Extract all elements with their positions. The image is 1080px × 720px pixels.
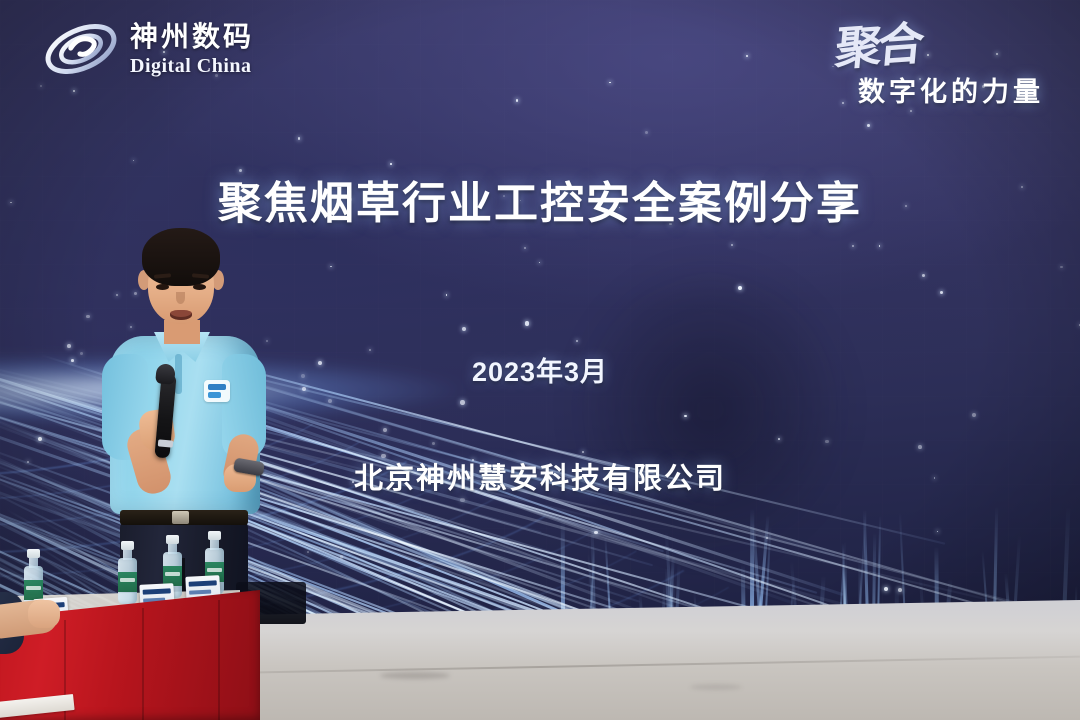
- presenter-eye-left: [156, 284, 169, 290]
- seated-audience-member: [0, 580, 70, 654]
- chest-logo-badge: [204, 380, 230, 402]
- polo-placket: [175, 354, 182, 394]
- microphone-head: [155, 363, 176, 385]
- conference-stage-photo: 神州数码 Digital China 聚合 数字化的力量 聚焦烟草行业工控安全案…: [0, 0, 1080, 720]
- slide-title: 聚焦烟草行业工控安全案例分享: [0, 182, 1080, 226]
- belt-buckle: [172, 511, 189, 524]
- presenter-eye-right: [193, 284, 206, 290]
- cloth-fold: [142, 608, 144, 720]
- seated-hand: [28, 600, 60, 628]
- presenter-mouth: [170, 310, 192, 320]
- cloth-fold: [218, 600, 220, 720]
- presenter-nose: [176, 292, 185, 304]
- floor-scuff: [380, 672, 450, 679]
- floor-scuff: [690, 684, 742, 690]
- foreground-table: [0, 560, 260, 720]
- microphone-band: [158, 439, 174, 447]
- water-bottle: [118, 542, 137, 604]
